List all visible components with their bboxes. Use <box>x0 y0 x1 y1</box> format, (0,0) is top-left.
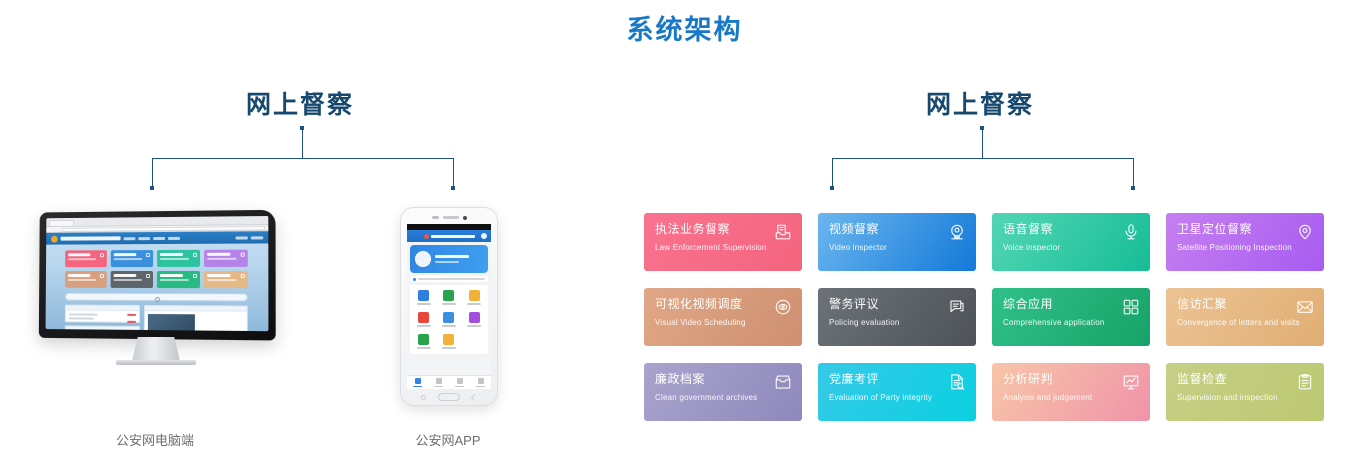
feature-card-title-en: Video inspector <box>829 243 965 253</box>
app-grid-item[interactable] <box>437 290 460 305</box>
feature-card-title-en: Visual Video Scheduling <box>655 318 791 328</box>
app-tile-icon <box>469 290 480 301</box>
connector-bar <box>832 158 1134 159</box>
feature-card[interactable]: 执法业务督察Law Enforcement Supervision <box>644 213 802 271</box>
microphone-icon <box>1122 223 1140 241</box>
app-grid-item[interactable] <box>463 290 486 305</box>
inbox-icon <box>774 223 792 241</box>
document-search-icon <box>948 373 966 391</box>
feature-card-title-cn: 卫星定位督察 <box>1177 222 1313 236</box>
feature-card-title-en: Policing evaluation <box>829 318 965 328</box>
right-connector-tree <box>832 128 1134 190</box>
feature-card-title-cn: 廉政档案 <box>655 372 791 386</box>
desktop-caption: 公安网电脑端 <box>55 430 255 449</box>
feature-card-title-en: Supervision and inspection <box>1177 393 1313 403</box>
connector-node-top <box>300 126 304 130</box>
app-title-text <box>431 235 475 238</box>
page-title: 系统架构 <box>0 8 1369 47</box>
mobile-phone-illustration <box>400 207 498 406</box>
feature-card-title-en: Satellite Positioning Inspection <box>1177 243 1313 253</box>
app-tile-label <box>442 347 456 349</box>
user-subtitle-text <box>435 261 459 264</box>
left-connector-tree <box>152 128 454 190</box>
phone-home-button[interactable] <box>438 393 460 401</box>
dashboard-mini-card <box>204 250 248 267</box>
chart-board-icon <box>1122 373 1140 391</box>
app-tile-label <box>417 347 431 349</box>
desktop-monitor-illustration <box>36 211 274 339</box>
app-tile-icon <box>443 312 454 323</box>
app-tile-icon <box>418 312 429 323</box>
feature-card-title-cn: 分析研判 <box>1003 372 1139 386</box>
site-logo-icon <box>51 235 58 242</box>
feature-card[interactable]: 语音督察Voice inspector <box>992 213 1150 271</box>
connector-drop-left <box>832 158 833 188</box>
phone-recents-button[interactable] <box>421 395 426 400</box>
feature-card[interactable]: 可视化视频调度Visual Video Scheduling <box>644 288 802 346</box>
feature-card-title-cn: 执法业务督察 <box>655 222 791 236</box>
user-name-text <box>435 255 469 258</box>
dashboard-panels <box>46 301 269 332</box>
app-tile-icon <box>418 334 429 345</box>
feature-card-title-cn: 综合应用 <box>1003 297 1139 311</box>
phone-back-button[interactable] <box>471 393 478 400</box>
feature-card[interactable]: 分析研判Analysis and judgement <box>992 363 1150 421</box>
feature-card-title-en: Convergence of letters and visits <box>1177 318 1313 328</box>
clipboard-icon <box>1296 373 1314 391</box>
avatar <box>415 251 431 267</box>
feature-card[interactable]: 党廉考评Evaluation of Party integrity <box>818 363 976 421</box>
app-header <box>407 230 491 242</box>
feature-card-title-cn: 信访汇聚 <box>1177 297 1313 311</box>
monitor-screen <box>46 216 269 331</box>
grid-icon <box>1122 298 1140 316</box>
app-tile-label <box>467 303 481 305</box>
site-brand-text <box>61 236 121 240</box>
system-architecture-diagram: 系统架构 网上督察 <box>0 0 1369 473</box>
archive-icon <box>774 373 792 391</box>
webcam-icon <box>948 223 966 241</box>
connector-drop-left <box>152 158 153 188</box>
tab-message[interactable] <box>449 376 470 389</box>
feature-card-title-cn: 监督检查 <box>1177 372 1313 386</box>
dashboard-mini-card <box>111 271 153 288</box>
feature-card-title-cn: 警务评议 <box>829 297 965 311</box>
phone-navigation-buttons <box>401 391 497 403</box>
connector-drop-right <box>1133 158 1134 188</box>
dashboard-search-bar <box>65 293 248 302</box>
feature-card-title-cn: 语音督察 <box>1003 222 1139 236</box>
app-grid-item[interactable] <box>463 312 486 327</box>
feature-card-title-cn: 党廉考评 <box>829 372 965 386</box>
dashboard-mini-card <box>111 250 153 267</box>
app-tile-icon <box>418 290 429 301</box>
location-pin-icon <box>1296 223 1314 241</box>
phone-frame <box>400 207 498 406</box>
monitor-stand-foot <box>116 360 196 365</box>
app-notice-bar <box>410 276 488 282</box>
feature-card-title-en: Analysis and judgement <box>1003 393 1139 403</box>
tab-settings[interactable] <box>470 376 491 389</box>
chat-icon <box>948 298 966 316</box>
eye-icon <box>774 298 792 316</box>
app-grid-item[interactable] <box>412 312 435 327</box>
feature-card[interactable]: 廉政档案Clean government archives <box>644 363 802 421</box>
app-tile-label <box>442 325 456 327</box>
dashboard-mini-card <box>204 271 248 288</box>
connector-stem <box>982 128 983 158</box>
connector-bar <box>152 158 454 159</box>
connector-node-bottom-left <box>150 186 154 190</box>
app-tile-icon <box>443 290 454 301</box>
connector-node-bottom-left <box>830 186 834 190</box>
app-user-card <box>410 245 488 273</box>
app-tile-label <box>442 303 456 305</box>
dashboard-mini-card <box>157 250 200 267</box>
left-section-heading: 网上督察 <box>150 85 450 121</box>
connector-drop-right <box>453 158 454 188</box>
tab-work[interactable] <box>428 376 449 389</box>
app-tile-icon <box>469 312 480 323</box>
feature-card-title-en: Clean government archives <box>655 393 791 403</box>
dashboard-mini-cards <box>46 243 269 288</box>
panel-todo <box>65 305 140 323</box>
dashboard-mini-card <box>65 271 107 288</box>
app-tile-label <box>467 325 481 327</box>
dashboard-mini-card <box>65 250 107 267</box>
connector-stem <box>302 128 303 158</box>
monitor-bezel <box>39 210 276 341</box>
monitor-stand-neck <box>132 337 180 361</box>
phone-camera-icon <box>463 216 467 220</box>
feature-card-title-cn: 可视化视频调度 <box>655 297 791 311</box>
feature-card-title-en: Comprehensive application <box>1003 318 1139 328</box>
app-icon-grid <box>410 285 488 354</box>
app-grid-item[interactable] <box>437 312 460 327</box>
app-grid-item[interactable] <box>412 334 435 349</box>
feature-card[interactable]: 综合应用Comprehensive application <box>992 288 1150 346</box>
mobile-caption: 公安网APP <box>348 430 548 449</box>
feature-card[interactable]: 卫星定位督察Satellite Positioning Inspection <box>1166 213 1324 271</box>
app-tile-icon <box>443 334 454 345</box>
right-section-heading: 网上督察 <box>830 85 1130 121</box>
app-tab-bar <box>407 375 491 389</box>
tab-home[interactable] <box>407 376 428 389</box>
connector-node-bottom-right <box>451 186 455 190</box>
envelope-icon <box>1296 298 1314 316</box>
app-logo-icon <box>424 234 429 239</box>
dashboard-mini-card <box>157 271 200 288</box>
feature-card-title-en: Voice inspector <box>1003 243 1139 253</box>
feature-card-title-cn: 视频督察 <box>829 222 965 236</box>
feature-card[interactable]: 信访汇聚Convergence of letters and visits <box>1166 288 1324 346</box>
panel-news <box>144 305 248 331</box>
app-tile-label <box>417 303 431 305</box>
app-message-icon <box>481 233 487 239</box>
phone-screen <box>407 224 491 389</box>
connector-node-bottom-right <box>1131 186 1135 190</box>
feature-card[interactable]: 监督检查Supervision and inspection <box>1166 363 1324 421</box>
feature-card[interactable]: 警务评议Policing evaluation <box>818 288 976 346</box>
panel-notice <box>65 325 141 331</box>
feature-card[interactable]: 视频督察Video inspector <box>818 213 976 271</box>
feature-card-title-en: Law Enforcement Supervision <box>655 243 791 253</box>
connector-node-top <box>980 126 984 130</box>
phone-earpiece <box>401 213 497 222</box>
app-tile-label <box>417 325 431 327</box>
app-grid-item[interactable] <box>437 334 460 349</box>
feature-card-title-en: Evaluation of Party integrity <box>829 393 965 403</box>
app-grid-item[interactable] <box>412 290 435 305</box>
feature-card-grid: 执法业务督察Law Enforcement Supervision视频督察Vid… <box>644 213 1324 421</box>
